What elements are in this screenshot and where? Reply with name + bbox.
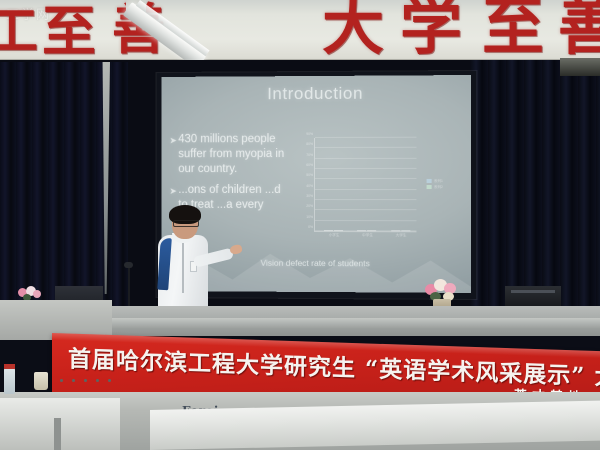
vent-dot-icon — [72, 379, 75, 382]
stage-banner-title: 首届哈尔滨工程大学研究生 “英语学术风采展示” 大赛 — [68, 340, 600, 392]
table-leg — [54, 418, 61, 450]
microphone-icon — [124, 262, 133, 268]
glasses-icon — [173, 220, 199, 227]
chart-gridline — [315, 178, 416, 179]
chart-x-tick-label: 中学生 — [350, 233, 384, 238]
chart-legend: 系列1系列2 — [427, 178, 443, 190]
paper-cup — [34, 372, 48, 390]
stage-equipment-right-detail — [511, 290, 555, 293]
chart-y-tick-label: 50% — [306, 173, 313, 177]
chart-bar-group: 大学生 — [391, 230, 410, 231]
chart-y-tick-label: 60% — [306, 163, 313, 167]
hall-upper-wall: 工学网 工 至 善 大 学 至 善 — [0, 0, 600, 66]
slide-bar-chart: 0%10%20%30%40%50%60%70%80%90%小学生中学生大学生 系… — [288, 134, 441, 251]
wall-banner-characters: 工 至 善 大 学 至 善 — [0, 0, 600, 58]
microphone-stand — [128, 266, 130, 308]
chart-gridline — [315, 147, 416, 148]
chart-y-tick-label: 10% — [306, 215, 313, 219]
wall-char-7: 善 — [558, 0, 600, 58]
slide-bullet-1-text: 430 millions people suffer from myopia i… — [178, 133, 284, 175]
chart-bar-group: 中学生 — [357, 230, 376, 231]
upper-right-wall-edge — [560, 58, 600, 76]
vent-dot-icon — [96, 379, 99, 382]
chart-y-tick-label: 80% — [306, 142, 313, 146]
wall-char-4: 大 — [322, 0, 384, 58]
wall-char-2: 至 — [42, 4, 96, 58]
chart-gridline — [315, 199, 416, 200]
chart-legend-swatch — [427, 185, 432, 189]
wall-char-6: 至 — [482, 0, 544, 58]
chart-gridline — [315, 220, 416, 221]
slide-title: Introduction — [162, 83, 472, 105]
slide-bullet-1: ➤ 430 millions people suffer from myopia… — [169, 132, 288, 177]
chart-gridline — [315, 168, 416, 169]
chart-bar — [401, 230, 410, 231]
chart-gridline — [315, 209, 416, 210]
chart-legend-swatch — [427, 179, 432, 183]
chart-y-tick-label: 0% — [308, 225, 313, 229]
wall-char-5: 学 — [400, 0, 462, 58]
chart-bar — [324, 230, 333, 231]
chart-y-tick-label: 20% — [306, 204, 313, 208]
chart-y-tick-label: 30% — [306, 194, 313, 198]
wall-vent-dots — [60, 378, 132, 383]
vent-dot-icon — [108, 379, 111, 382]
chart-y-tick-label: 70% — [306, 153, 313, 157]
bullet-arrow-icon: ➤ — [169, 133, 176, 148]
flower-petal — [33, 290, 41, 298]
chart-bar-group: 小学生 — [324, 230, 343, 231]
photo-scene: 工学网 工 至 善 大 学 至 善 Introduction ➤ 430 mil… — [0, 0, 600, 450]
chart-legend-label: 系列2 — [434, 184, 443, 190]
chart-bar — [357, 230, 366, 231]
water-bottle-cap — [4, 364, 15, 369]
vent-dot-icon — [84, 379, 87, 382]
chart-plot-area: 0%10%20%30%40%50%60%70%80%90%小学生中学生大学生 — [314, 138, 416, 233]
chart-gridline — [315, 158, 416, 159]
chart-y-tick-label: 90% — [306, 132, 313, 136]
chart-bar — [367, 230, 376, 231]
presenter-jacket-zipper — [182, 243, 184, 293]
vent-dot-icon — [60, 379, 63, 382]
chart-gridline — [315, 189, 416, 190]
chart-bar — [334, 230, 343, 231]
chart-legend-item: 系列2 — [427, 184, 443, 190]
chart-x-tick-label: 大学生 — [384, 233, 418, 238]
chart-y-tick-label: 40% — [306, 184, 313, 188]
chart-bar — [391, 230, 400, 231]
wall-char-1: 工 — [0, 6, 38, 58]
stage-curtain-right — [470, 60, 600, 322]
bullet-arrow-icon-2: ➤ — [169, 184, 176, 199]
water-bottle — [4, 368, 15, 394]
chart-gridline — [315, 137, 416, 138]
chart-x-tick-label: 小学生 — [317, 233, 351, 238]
